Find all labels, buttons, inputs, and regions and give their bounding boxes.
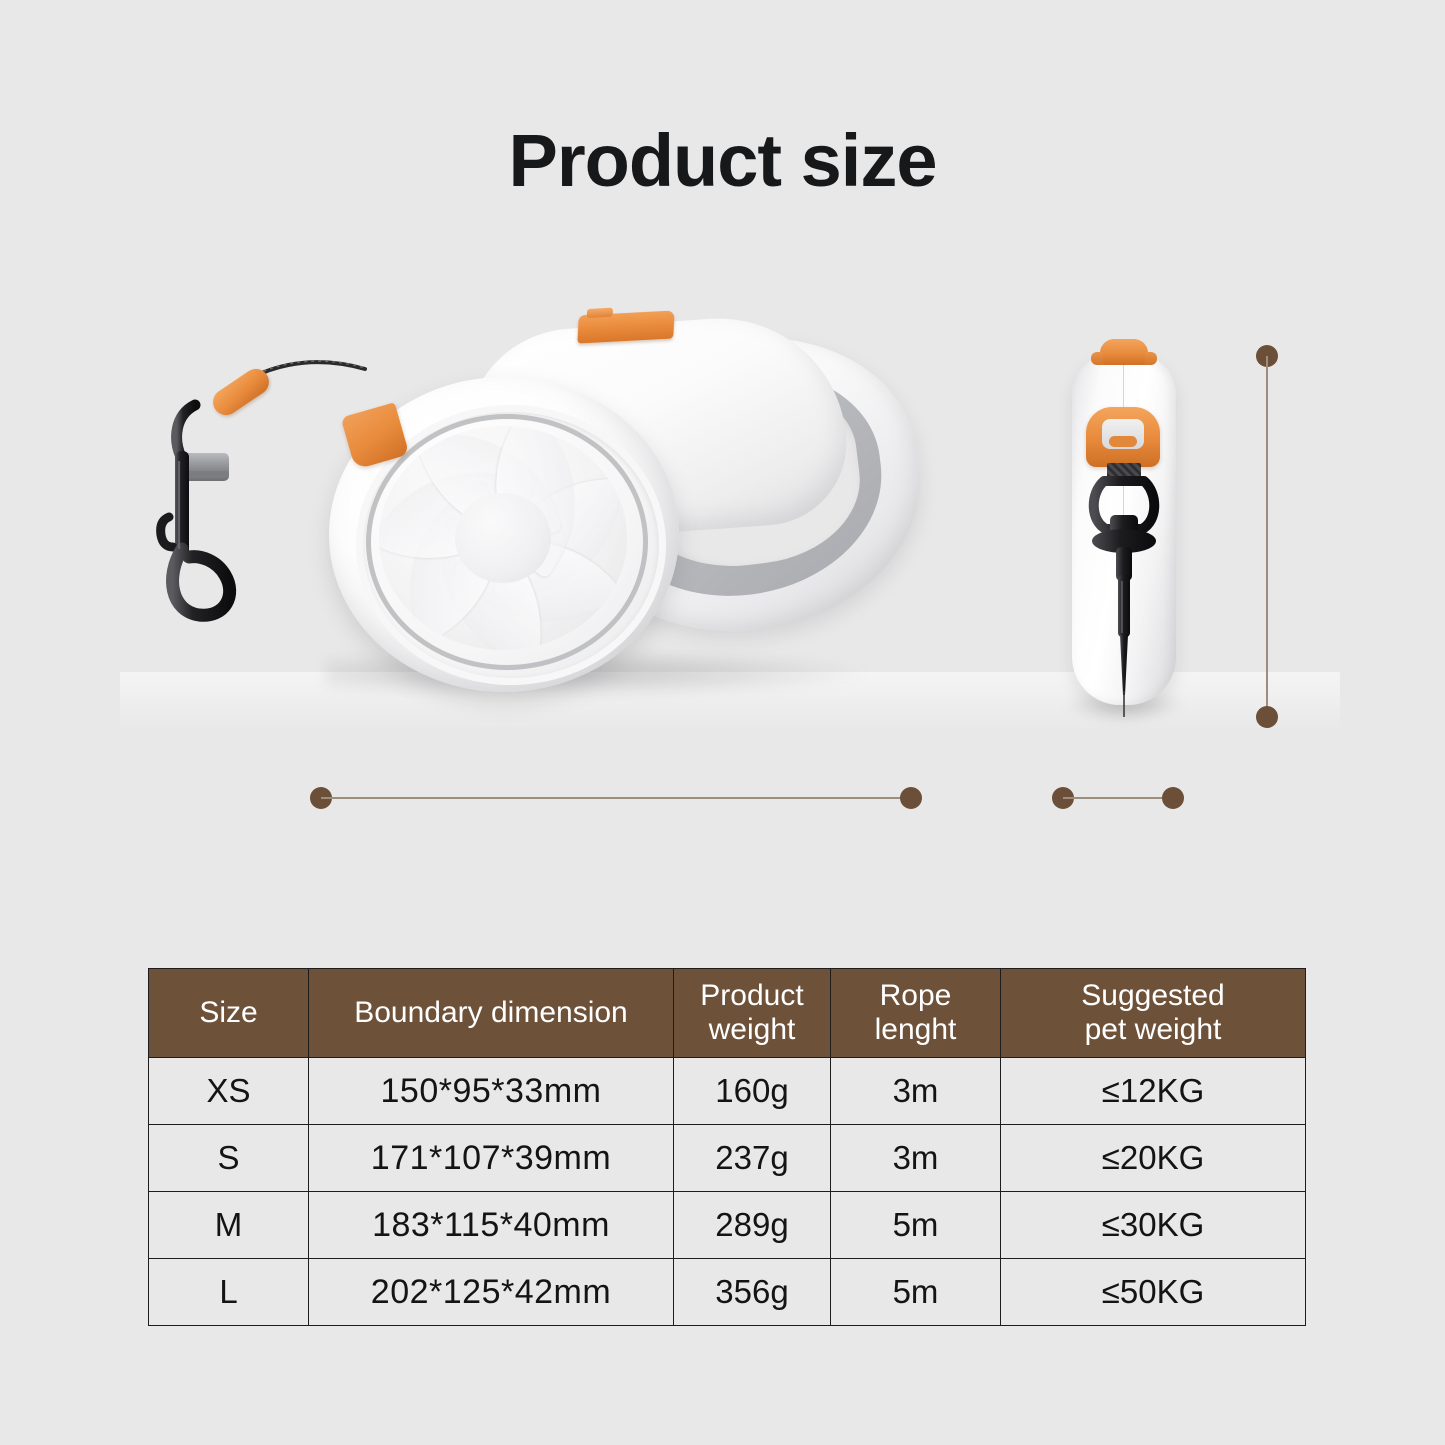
column-header-product-weight: Product weight [674, 969, 831, 1058]
table-row: L 202*125*42mm 356g 5m ≤50KG [149, 1259, 1306, 1326]
cell-boundary-dimension: 183*115*40mm [309, 1192, 674, 1259]
cell-product-weight: 237g [674, 1125, 831, 1192]
cell-size: XS [149, 1058, 309, 1125]
cell-suggested-pet-weight: ≤20KG [1001, 1125, 1306, 1192]
cell-size: S [149, 1125, 309, 1192]
column-header-size: Size [149, 969, 309, 1058]
cell-product-weight: 160g [674, 1058, 831, 1125]
dimension-line-width [321, 797, 911, 799]
cell-suggested-pet-weight: ≤12KG [1001, 1058, 1306, 1125]
cell-rope-lenght: 5m [831, 1192, 1001, 1259]
cell-rope-lenght: 3m [831, 1058, 1001, 1125]
table-header-row: Size Boundary dimension Product weight R… [149, 969, 1306, 1058]
cell-boundary-dimension: 171*107*39mm [309, 1125, 674, 1192]
product-side-view [1060, 335, 1188, 735]
cell-product-weight: 289g [674, 1192, 831, 1259]
spool-hub [455, 493, 551, 583]
cell-product-weight: 356g [674, 1259, 831, 1326]
cell-rope-lenght: 5m [831, 1259, 1001, 1326]
table-row: XS 150*95*33mm 160g 3m ≤12KG [149, 1058, 1306, 1125]
product-main-view [315, 305, 935, 725]
column-header-rope-lenght: Rope lenght [831, 969, 1001, 1058]
dimension-line-height [1266, 356, 1268, 714]
table-row: M 183*115*40mm 289g 5m ≤30KG [149, 1192, 1306, 1259]
cell-size: L [149, 1259, 309, 1326]
dimension-dot-bottom [1256, 706, 1278, 728]
product-hero-stage [0, 240, 1445, 830]
page-title: Product size [0, 118, 1445, 203]
orange-brake-button [577, 310, 674, 343]
cell-rope-lenght: 3m [831, 1125, 1001, 1192]
cell-size: M [149, 1192, 309, 1259]
dimension-line-depth [1063, 797, 1173, 799]
dimension-dot-right [900, 787, 922, 809]
dimension-dot-right [1162, 787, 1184, 809]
cell-boundary-dimension: 150*95*33mm [309, 1058, 674, 1125]
cord-and-hook-assembly [155, 355, 395, 655]
cell-suggested-pet-weight: ≤50KG [1001, 1259, 1306, 1326]
table-row: S 171*107*39mm 237g 3m ≤20KG [149, 1125, 1306, 1192]
black-snap-hook-icon [155, 399, 315, 639]
column-header-boundary-dimension: Boundary dimension [309, 969, 674, 1058]
product-spec-table: Size Boundary dimension Product weight R… [148, 968, 1306, 1326]
spool-face [379, 426, 627, 650]
cell-suggested-pet-weight: ≤30KG [1001, 1192, 1306, 1259]
cell-boundary-dimension: 202*125*42mm [309, 1259, 674, 1326]
column-header-suggested-pet-weight: Suggested pet weight [1001, 969, 1306, 1058]
side-black-snap-hook-icon [1060, 335, 1188, 735]
